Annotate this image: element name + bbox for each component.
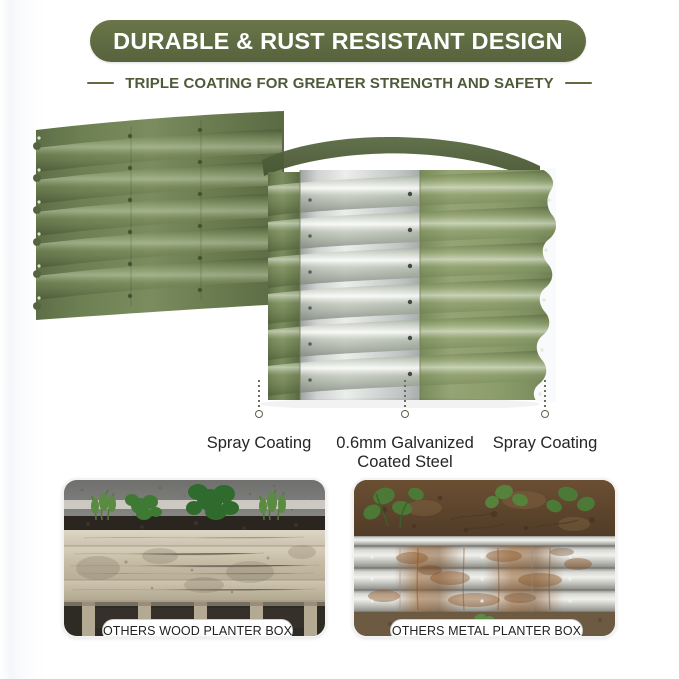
leader-spray-left (258, 380, 260, 414)
callout-label-spray-left: Spray Coating (185, 434, 333, 453)
callout-label-spray-right: Spray Coating (470, 434, 620, 453)
caption-text-metal: OTHERS METAL PLANTER BOX (392, 624, 581, 638)
photo-card-metal: OTHERS METAL PLANTER BOX (352, 478, 617, 638)
product-illustration (0, 108, 679, 408)
page-title: DURABLE & RUST RESISTANT DESIGN (113, 28, 563, 55)
callout-label-steel-line1: 0.6mm Galvanized (320, 434, 490, 453)
leader-steel (404, 380, 406, 414)
infographic-page: DURABLE & RUST RESISTANT DESIGN TRIPLE C… (0, 0, 679, 679)
caption-text-wood: OTHERS WOOD PLANTER BOX (103, 624, 292, 638)
comparison-section: OTHERS WOOD PLANTER BOX (0, 478, 679, 653)
leader-spray-right (544, 380, 546, 414)
page-subtitle: TRIPLE COATING FOR GREATER STRENGTH AND … (125, 75, 554, 92)
flat-panel-group (33, 111, 284, 320)
callout-leaders (0, 380, 679, 420)
photo-card-wood: OTHERS WOOD PLANTER BOX (62, 478, 327, 638)
dash-right-icon (565, 82, 592, 84)
callout-label-steel-line2: Coated Steel (320, 453, 490, 472)
title-pill: DURABLE & RUST RESISTANT DESIGN (90, 20, 586, 62)
callout-label-steel: 0.6mm Galvanized Coated Steel (320, 434, 490, 472)
caption-pill-wood: OTHERS WOOD PLANTER BOX (102, 619, 293, 638)
caption-pill-metal: OTHERS METAL PLANTER BOX (390, 619, 583, 638)
dash-left-icon (87, 82, 114, 84)
subtitle-row: TRIPLE COATING FOR GREATER STRENGTH AND … (0, 70, 679, 96)
